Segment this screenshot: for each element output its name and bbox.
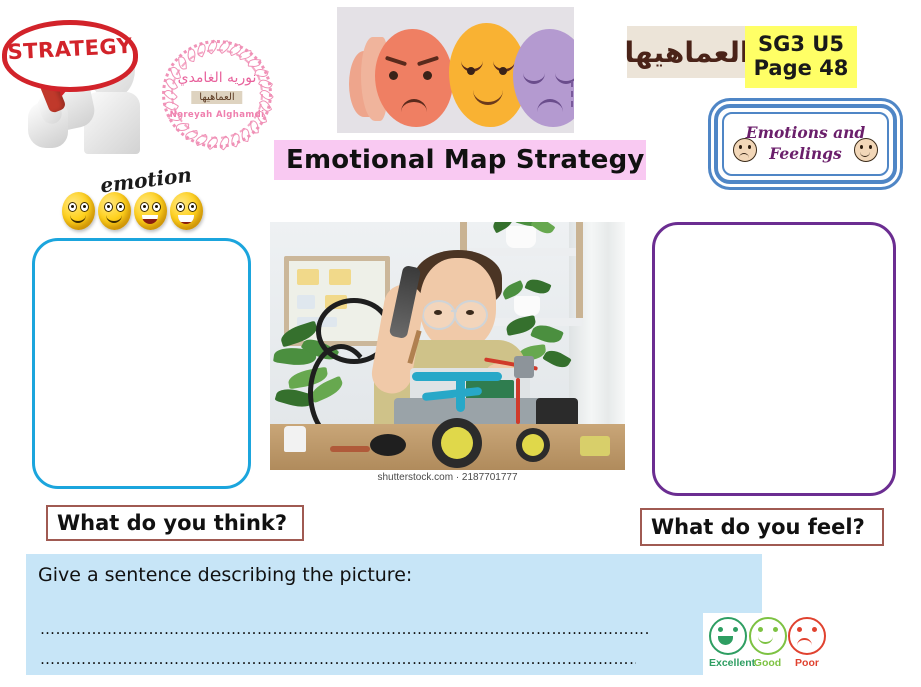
stimulus-photo: shutterstock.com · 2187701777 xyxy=(270,222,625,490)
good-face-icon[interactable] xyxy=(749,617,787,655)
face-sad-icon xyxy=(513,29,574,127)
feel-answer-box[interactable] xyxy=(652,222,896,496)
rating-item-poor[interactable]: Poor xyxy=(788,617,826,669)
page-tag-badge: SG3 U5 Page 48 xyxy=(745,26,857,88)
emotions-and-feelings-badge: Emotions and Feelings xyxy=(714,104,897,184)
badge-line-1: Emotions and xyxy=(746,123,865,144)
answer-line-1[interactable]: …………………………………………………………………………………………………………… xyxy=(40,620,650,638)
feel-caption-box: What do you feel? xyxy=(640,508,884,546)
glasses-right-icon xyxy=(454,300,488,330)
rating-label-poor: Poor xyxy=(788,657,826,669)
robot-wheel-left-icon xyxy=(432,418,482,468)
badge-text: Emotions and Feelings xyxy=(746,123,865,165)
teacher-stamp-logo: نوريه الغامدي العماهيها Noreyah Alghamdi xyxy=(162,40,272,148)
feel-caption-label: What do you feel? xyxy=(642,515,874,539)
strategy-speech-bubble: STRATEGY xyxy=(2,20,138,92)
poor-face-icon[interactable] xyxy=(788,617,826,655)
sentence-answer-panel[interactable]: Give a sentence describing the picture: … xyxy=(26,554,762,675)
photo-credit-text: shutterstock.com · 2187701777 xyxy=(270,472,625,483)
emoticon-surprised-icon xyxy=(98,192,131,230)
photo-image xyxy=(270,222,625,470)
emoticon-laughing-icon xyxy=(134,192,167,230)
face-angry-icon xyxy=(375,29,453,127)
badge-line-2: Feelings xyxy=(746,144,865,165)
answer-line-2[interactable]: …………………………………………………………………………………………………………… xyxy=(40,650,636,668)
badge-happy-face-icon xyxy=(854,138,878,162)
worksheet-title-banner: Emotional Map Strategy xyxy=(274,140,646,180)
robot-wheel-right-icon xyxy=(516,428,550,462)
badge-sad-face-icon xyxy=(733,138,757,162)
think-caption-box: What do you think? xyxy=(46,505,304,541)
think-answer-box[interactable] xyxy=(32,238,251,489)
badge-inner-frame: Emotions and Feelings xyxy=(722,112,889,176)
rating-label-excellent: Excellent xyxy=(709,657,747,669)
rating-item-good[interactable]: Good xyxy=(749,617,787,669)
shelf-post-right-icon xyxy=(576,222,583,318)
rating-label-good: Good xyxy=(749,657,787,669)
excellent-face-icon[interactable] xyxy=(709,617,747,655)
page-title: Emotional Map Strategy xyxy=(274,145,645,175)
arabic-strip-text: العماهيها xyxy=(624,36,749,69)
page-tag-unit: SG3 U5 xyxy=(758,33,844,57)
self-assessment-rating[interactable]: Excellent Good Poor xyxy=(703,613,832,681)
glasses-left-icon xyxy=(422,300,456,330)
strategy-clipart: STRATEGY xyxy=(0,6,155,166)
rating-item-excellent[interactable]: Excellent xyxy=(709,617,747,669)
think-caption-label: What do you think? xyxy=(48,511,296,535)
plant-pot-shelf-icon xyxy=(514,296,540,316)
emoticon-row xyxy=(62,192,202,232)
stamp-arabic-badge: العماهيها xyxy=(191,91,242,104)
plant-pot-top-icon xyxy=(506,226,536,248)
arabic-strip-label: العماهيها xyxy=(627,26,747,78)
emoticon-smirk-icon xyxy=(62,192,95,230)
emoticon-grinning-icon xyxy=(170,192,203,230)
page-tag-page: Page 48 xyxy=(754,57,849,81)
emotion-faces-illustration xyxy=(337,7,574,133)
strategy-bubble-label: STRATEGY xyxy=(6,34,133,65)
sentence-prompt-label: Give a sentence describing the picture: xyxy=(38,564,412,586)
